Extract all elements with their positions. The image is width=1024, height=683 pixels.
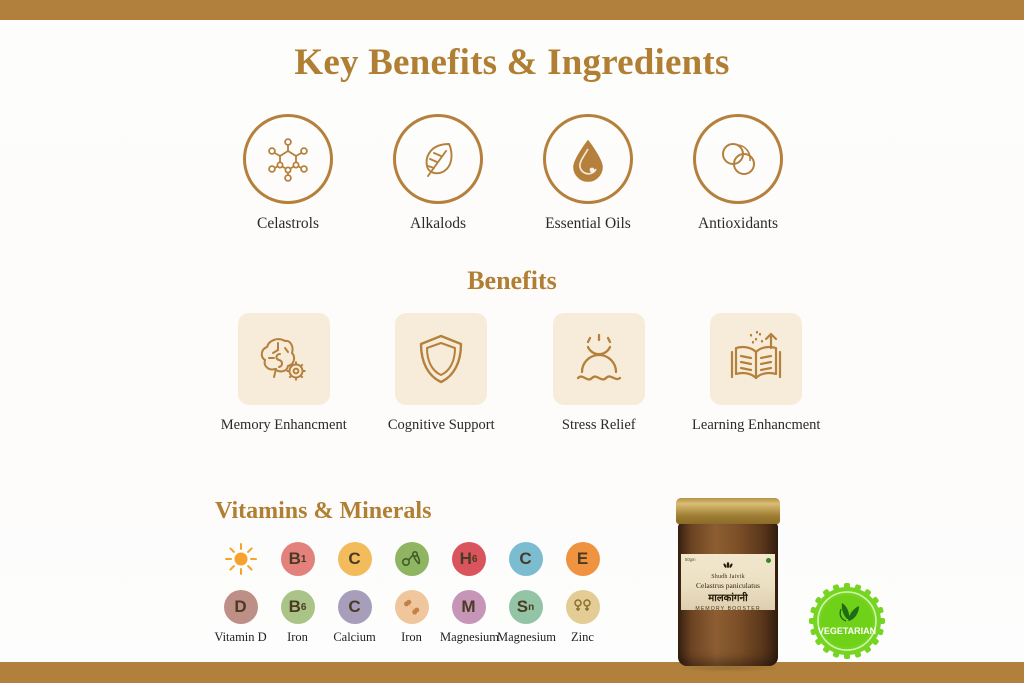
benefit-label: Memory Enhancment xyxy=(205,417,363,434)
vitamin-dot: C xyxy=(509,542,543,576)
content-stage: Key Benefits & Ingredients xyxy=(0,20,1024,662)
vitamin-label: Zinc xyxy=(554,630,611,645)
jar-weight: 50gm xyxy=(685,557,695,562)
vitamin-dot: B6 xyxy=(281,590,315,624)
vitamin-item: Iron xyxy=(383,590,440,645)
vitamin-dot: H6 xyxy=(452,542,486,576)
vitamin-glyph: M xyxy=(461,597,475,617)
vitamin-glyph: C xyxy=(348,549,360,569)
benefit-item: Stress Relief xyxy=(520,313,678,448)
jar-label: 50gm Shudh Jaivik Celastrus paniculatus … xyxy=(681,554,775,610)
vitamin-dot: C xyxy=(338,542,372,576)
vitamin-label: Magnesium xyxy=(497,630,554,645)
vitamin-item: B1 xyxy=(269,542,326,576)
vitamin-glyph: C xyxy=(519,549,531,569)
vitamin-label: Vitamin D xyxy=(212,630,269,645)
vitamin-sub: 1 xyxy=(301,554,307,565)
benefit-label: Learning Enhancment xyxy=(678,417,836,434)
benefit-label: Cognitive Support xyxy=(363,417,521,434)
vitamin-dot: Sn xyxy=(509,590,543,624)
benefit-icon-tile xyxy=(395,313,487,405)
vitamin-dot: E xyxy=(566,542,600,576)
bone-icon xyxy=(401,597,423,617)
vitamin-dot: B1 xyxy=(281,542,315,576)
vitamin-item: M Magnesium xyxy=(440,590,497,645)
benefit-item: Memory Enhancment xyxy=(205,313,363,448)
ingredients-row: Celastrols Alkalods xyxy=(218,114,808,249)
ingredient-item: Antioxidants xyxy=(668,114,808,249)
page-title: Key Benefits & Ingredients xyxy=(0,41,1024,84)
vitamins-grid: B1 C xyxy=(212,542,612,645)
shield-icon xyxy=(413,330,469,388)
vitamin-item xyxy=(383,542,440,576)
ingredient-item: Alkalods xyxy=(368,114,508,249)
vitamin-item: C xyxy=(326,542,383,576)
ingredient-item: Celastrols xyxy=(218,114,358,249)
ingredient-label: Celastrols xyxy=(218,215,358,233)
vitamin-glyph: C xyxy=(348,597,360,617)
vitamin-item: Sn Magnesium xyxy=(497,590,554,645)
vitamin-item: E xyxy=(554,542,611,576)
vitamin-glyph: H xyxy=(460,549,472,569)
leaf-icon xyxy=(415,136,461,182)
vitamin-item xyxy=(212,542,269,576)
benefit-icon-tile xyxy=(238,313,330,405)
jar-lid xyxy=(676,498,780,524)
bottom-accent-bar xyxy=(0,662,1024,683)
vitamin-dot: D xyxy=(224,590,258,624)
vitamins-heading: Vitamins & Minerals xyxy=(215,498,431,525)
vitamin-glyph: D xyxy=(234,597,246,617)
vitamin-item: C xyxy=(497,542,554,576)
droplet-icon xyxy=(565,136,611,182)
benefit-icon-tile xyxy=(553,313,645,405)
ingredient-icon-circle xyxy=(243,114,333,204)
vitamin-label: Calcium xyxy=(326,630,383,645)
vitamin-dot xyxy=(566,590,600,624)
molecule-icon xyxy=(572,597,594,617)
brain-gear-icon xyxy=(254,330,314,388)
jar-hindi-name: मालकांगनी xyxy=(681,590,775,604)
vitamin-glyph: B xyxy=(289,549,301,569)
badge-starburst-icon: VEGETARIAN xyxy=(808,582,886,660)
ingredient-item: Essential Oils xyxy=(518,114,658,249)
ingredient-icon-circle xyxy=(693,114,783,204)
molecule-icon xyxy=(265,136,311,182)
vitamin-item: Zinc xyxy=(554,590,611,645)
vitamin-glyph: S xyxy=(517,597,528,617)
benefit-item: Cognitive Support xyxy=(363,313,521,448)
veg-mark-icon xyxy=(766,558,771,563)
vitamin-dot xyxy=(395,590,429,624)
vitamins-row-1: B1 C xyxy=(212,542,612,576)
vitamin-dot xyxy=(224,542,258,576)
vitamin-label: Magnesium xyxy=(440,630,497,645)
vitamin-dot: M xyxy=(452,590,486,624)
ingredient-label: Antioxidants xyxy=(668,215,808,233)
vitamin-item: H6 xyxy=(440,542,497,576)
top-accent-bar xyxy=(0,0,1024,20)
benefit-item: Learning Enhancment xyxy=(678,313,836,448)
vitamins-row-2: D Vitamin D B6 Iron C Calcium xyxy=(212,590,612,645)
veg-badge-text-svg: VEGETARIAN xyxy=(818,626,876,636)
vitamin-glyph: B xyxy=(289,597,301,617)
product-jar-image: 50gm Shudh Jaivik Celastrus paniculatus … xyxy=(648,498,808,670)
vitamin-label: Iron xyxy=(269,630,326,645)
vitamin-dot xyxy=(395,542,429,576)
molecule-icon xyxy=(401,549,423,569)
vitamin-sub: 6 xyxy=(472,554,478,565)
ingredient-label: Essential Oils xyxy=(518,215,658,233)
vitamin-dot: C xyxy=(338,590,372,624)
benefit-label: Stress Relief xyxy=(520,417,678,434)
ingredient-label: Alkalods xyxy=(368,215,508,233)
jar-brand: Shudh Jaivik xyxy=(681,574,775,580)
benefits-heading: Benefits xyxy=(0,266,1024,296)
vitamin-item: C Calcium xyxy=(326,590,383,645)
ingredient-icon-circle xyxy=(393,114,483,204)
jar-subtitle: MEMORY BOOSTER xyxy=(681,606,775,612)
vitamin-item: D Vitamin D xyxy=(212,590,269,645)
product-infographic-page: Key Benefits & Ingredients xyxy=(0,0,1024,683)
meditation-waves-icon xyxy=(570,330,628,388)
vitamin-sub: n xyxy=(528,602,534,613)
vegetarian-badge: VEGETARIAN xyxy=(808,582,886,660)
vitamin-item: B6 Iron xyxy=(269,590,326,645)
open-book-arrow-icon xyxy=(726,330,786,388)
benefits-row: Memory Enhancment Cognitive Support xyxy=(205,313,835,448)
jar-botanical-name: Celastrus paniculatus xyxy=(681,581,775,590)
vitamin-sub: 6 xyxy=(301,602,307,613)
sun-icon xyxy=(224,542,258,576)
brand-leaf-icon xyxy=(721,561,735,568)
overlapping-circles-icon xyxy=(714,136,762,182)
ingredient-icon-circle xyxy=(543,114,633,204)
vitamin-glyph: E xyxy=(577,549,588,569)
vitamin-label: Iron xyxy=(383,630,440,645)
benefit-icon-tile xyxy=(710,313,802,405)
